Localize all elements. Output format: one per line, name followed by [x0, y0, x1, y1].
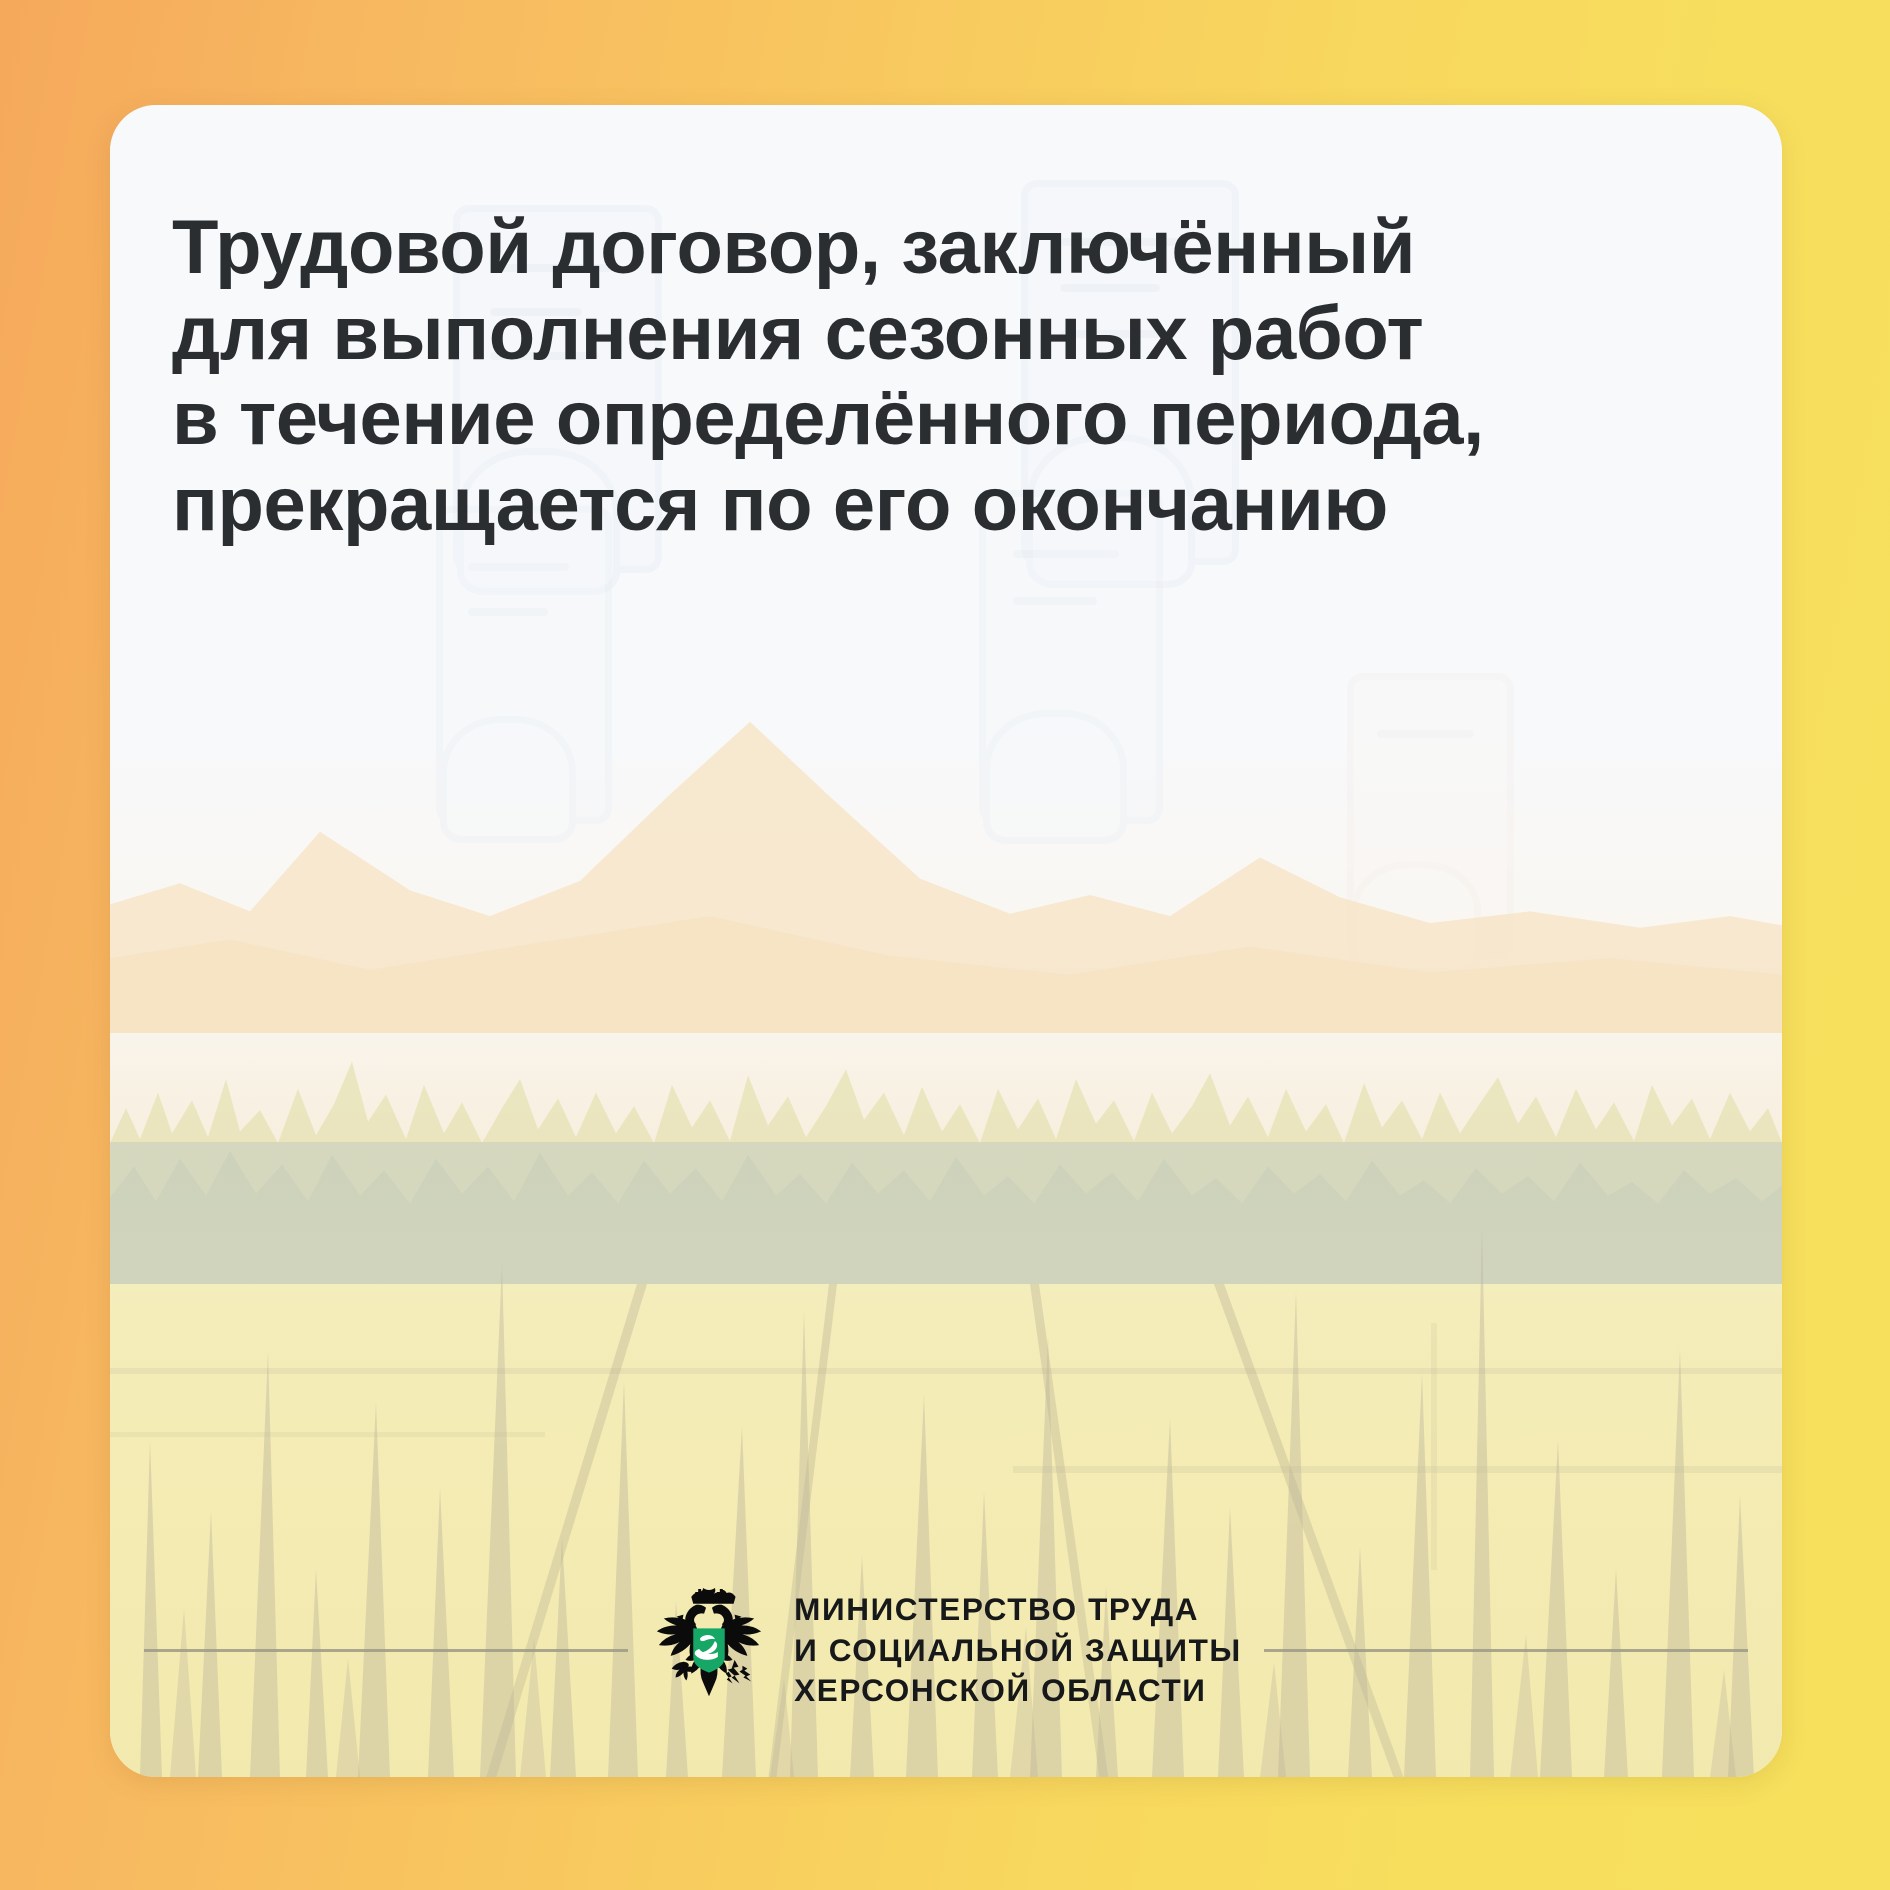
mountain-range	[110, 682, 1782, 1033]
double-headed-eagle-emblem	[650, 1587, 768, 1713]
divider-left	[144, 1649, 628, 1652]
footer: МИНИСТЕРСТВО ТРУДА И СОЦИАЛЬНОЙ ЗАЩИТЫ Х…	[110, 1587, 1782, 1713]
brand-lockup: МИНИСТЕРСТВО ТРУДА И СОЦИАЛЬНОЙ ЗАЩИТЫ Х…	[650, 1587, 1242, 1713]
page-title: Трудовой договор, заключённый для выполн…	[172, 205, 1632, 547]
info-card: Трудовой договор, заключённый для выполн…	[110, 105, 1782, 1777]
organization-name: МИНИСТЕРСТВО ТРУДА И СОЦИАЛЬНОЙ ЗАЩИТЫ Х…	[794, 1589, 1242, 1712]
divider-right	[1264, 1649, 1748, 1652]
